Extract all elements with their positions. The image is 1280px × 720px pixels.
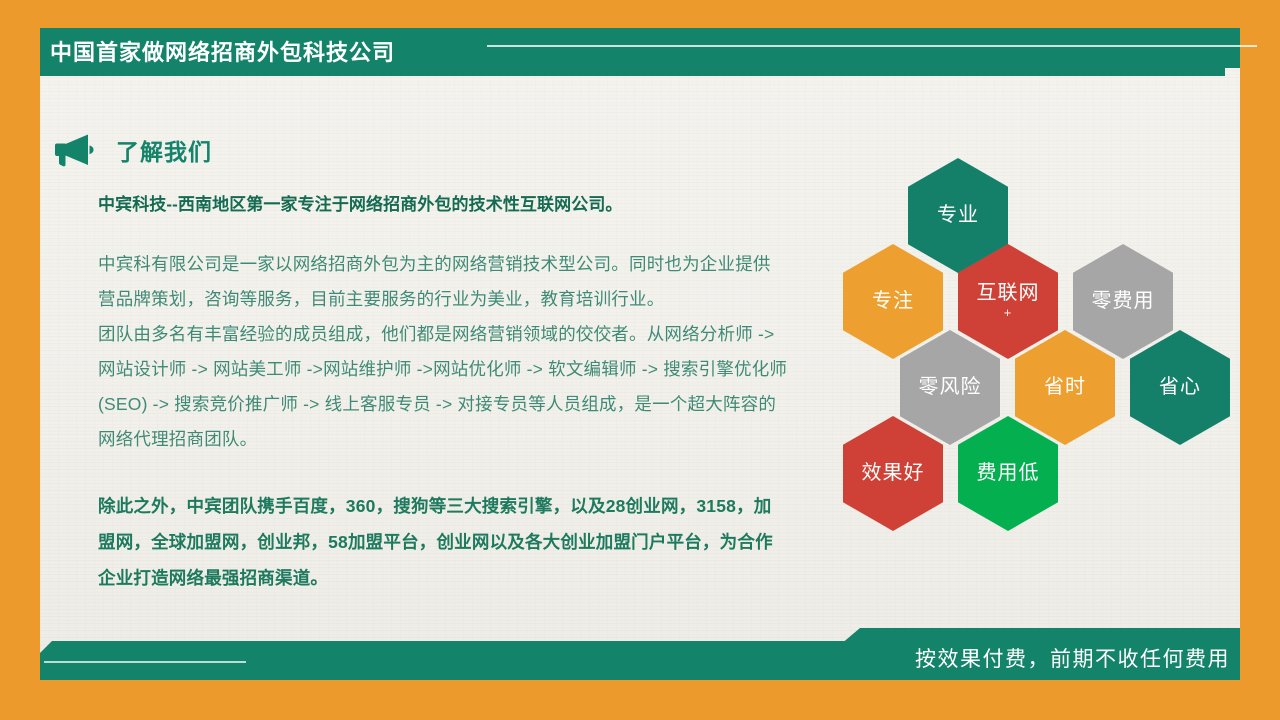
- hexagon-tile: 专注: [843, 244, 943, 359]
- section-title: 了解我们: [116, 133, 212, 167]
- hexagon-tile: 零费用: [1073, 244, 1173, 359]
- hexagon-tile: 费用低: [958, 416, 1058, 531]
- hexagon-tile: 零风险: [900, 330, 1000, 445]
- lead-paragraph: 中宾科技--西南地区第一家专注于网络招商外包的技术性互联网公司。: [98, 192, 788, 218]
- hexagon-label: 专注: [872, 290, 914, 313]
- body-paragraph-1: 中宾科有限公司是一家以网络招商外包为主的网络营销技术型公司。同时也为企业提供营品…: [98, 247, 788, 317]
- page-title: 中国首家做网络招商外包科技公司: [50, 30, 395, 75]
- about-copy: 中宾科技--西南地区第一家专注于网络招商外包的技术性互联网公司。 中宾科有限公司…: [98, 192, 788, 596]
- body-paragraph-2: 团队由多名有丰富经验的成员组成，他们都是网络营销领域的佼佼者。从网络分析师 ->…: [98, 317, 788, 457]
- hexagon-label: 零风险: [919, 376, 982, 399]
- megaphone-icon: [52, 133, 94, 167]
- hexagon-tile: 省时: [1015, 330, 1115, 445]
- slide-canvas: 中国首家做网络招商外包科技公司 了解我们 中宾科技--西南地区第一家专注于网络招…: [0, 0, 1280, 720]
- hexagon-label: 零费用: [1092, 290, 1155, 313]
- header-divider-line: [487, 45, 1257, 47]
- hexagon-cluster: 专业专注互联网+零费用零风险省时省心效果好费用低: [830, 158, 1240, 538]
- closing-paragraph: 除此之外，中宾团队携手百度，360，搜狗等三大搜索引擎，以及28创业网，3158…: [98, 488, 788, 596]
- section-heading: 了解我们: [52, 133, 212, 167]
- hexagon-tile: 省心: [1130, 330, 1230, 445]
- hexagon-tile: 效果好: [843, 416, 943, 531]
- hexagon-label: 效果好: [862, 462, 925, 485]
- hexagon-label: 省时: [1044, 376, 1086, 399]
- hexagon-label: 专业: [937, 204, 979, 227]
- hexagon-label: 省心: [1159, 376, 1201, 399]
- hexagon-label: 互联网: [977, 282, 1040, 305]
- hexagon-label: 费用低: [977, 462, 1040, 485]
- footer-tagline: 按效果付费，前期不收任何费用: [915, 643, 1230, 677]
- hexagon-sublabel: +: [1004, 306, 1013, 320]
- footer-divider-line: [44, 661, 246, 663]
